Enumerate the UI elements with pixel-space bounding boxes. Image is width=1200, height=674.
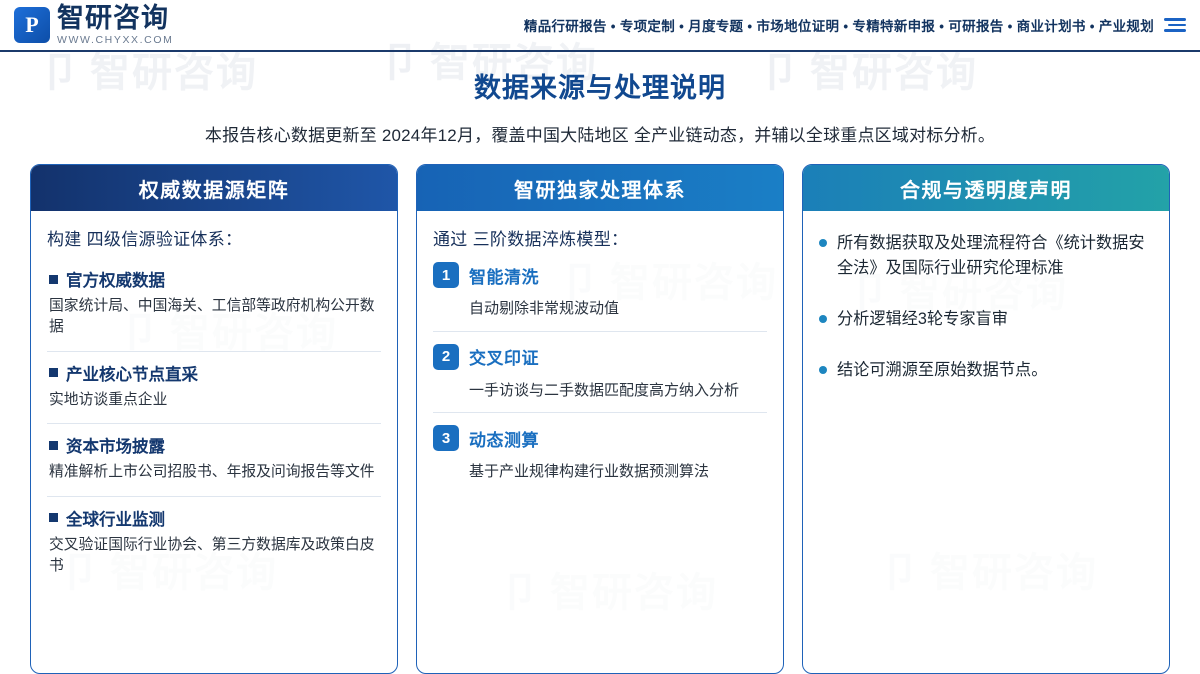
card-data-sources: 权威数据源矩阵 构建 四级信源验证体系： 官方权威数据 国家统计局、中国海关、工… [30,164,398,674]
block-text: 国家统计局、中国海关、工信部等政府机构公开数据 [49,296,379,339]
card-title-data-sources: 权威数据源矩阵 [31,165,397,211]
square-bullet-icon [49,441,58,450]
list-item: 所有数据获取及处理流程符合《统计数据安全法》及国际行业研究伦理标准 [819,231,1153,281]
page-subtitle: 本报告核心数据更新至 2024年12月，覆盖中国大陆地区 全产业链动态，并辅以全… [0,121,1200,146]
dot-bullet-icon [819,366,827,374]
step-title: 动态测算 [469,426,539,451]
block-text: 精准解析上市公司招股书、年报及问询报告等文件 [49,462,379,483]
list-item: 资本市场披露 精准解析上市公司招股书、年报及问询报告等文件 [47,424,381,496]
card-title-processing-system: 智研独家处理体系 [417,165,783,211]
square-bullet-icon [49,368,58,377]
card-lead-processing-system: 通过 三阶数据淬炼模型： [433,225,767,250]
block-text: 交叉验证国际行业协会、第三方数据库及政策白皮书 [49,535,379,578]
card-processing-system: 智研独家处理体系 通过 三阶数据淬炼模型： 1 智能清洗 自动剔除非常规波动值 … [416,164,784,674]
card-lead-data-sources: 构建 四级信源验证体系： [47,225,381,250]
step-text: 基于产业规律构建行业数据预测算法 [469,461,767,484]
header-tagline: 精品行研报告 • 专项定制 • 月度专题 • 市场地位证明 • 专精特新申报 •… [524,15,1160,35]
step-number: 1 [433,262,459,288]
dot-bullet-icon [819,239,827,247]
page-header: P 智研咨询 WWW.CHYXX.COM 精品行研报告 • 专项定制 • 月度专… [0,0,1200,52]
step-text: 自动剔除非常规波动值 [469,298,767,321]
brand-url: WWW.CHYXX.COM [57,35,173,46]
block-title: 官方权威数据 [66,267,165,291]
list-item: 2 交叉印证 一手访谈与二手数据匹配度高方纳入分析 [433,331,767,413]
page-title: 数据来源与处理说明 [0,66,1200,105]
block-text: 实地访谈重点企业 [49,390,379,411]
list-item: 3 动态测算 基于产业规律构建行业数据预测算法 [433,412,767,494]
block-title: 产业核心节点直采 [66,361,198,385]
step-text: 一手访谈与二手数据匹配度高方纳入分析 [469,380,767,403]
list-item: 产业核心节点直采 实地访谈重点企业 [47,352,381,424]
content-columns: 权威数据源矩阵 构建 四级信源验证体系： 官方权威数据 国家统计局、中国海关、工… [0,146,1200,674]
list-item: 结论可溯源至原始数据节点。 [819,358,1153,383]
list-item: 全球行业监测 交叉验证国际行业协会、第三方数据库及政策白皮书 [47,497,381,590]
bullet-text: 分析逻辑经3轮专家盲审 [837,307,1008,332]
title-section: 数据来源与处理说明 本报告核心数据更新至 2024年12月，覆盖中国大陆地区 全… [0,66,1200,146]
step-number: 3 [433,425,459,451]
card-title-compliance: 合规与透明度声明 [803,165,1169,211]
bullet-text: 所有数据获取及处理流程符合《统计数据安全法》及国际行业研究伦理标准 [837,231,1153,281]
brand-name: 智研咨询 [57,5,173,32]
dot-bullet-icon [819,315,827,323]
card-compliance: 合规与透明度声明 所有数据获取及处理流程符合《统计数据安全法》及国际行业研究伦理… [802,164,1170,674]
menu-icon[interactable] [1160,18,1186,32]
square-bullet-icon [49,513,58,522]
logo-icon: P [14,7,50,43]
brand-logo[interactable]: P 智研咨询 WWW.CHYXX.COM [14,5,173,46]
list-item: 分析逻辑经3轮专家盲审 [819,307,1153,332]
list-item: 官方权威数据 国家统计局、中国海关、工信部等政府机构公开数据 [47,258,381,352]
step-title: 交叉印证 [469,344,539,369]
square-bullet-icon [49,275,58,284]
block-title: 全球行业监测 [66,506,165,530]
step-number: 2 [433,344,459,370]
step-title: 智能清洗 [469,263,539,288]
bullet-text: 结论可溯源至原始数据节点。 [837,358,1047,383]
block-title: 资本市场披露 [66,433,165,457]
list-item: 1 智能清洗 自动剔除非常规波动值 [433,258,767,331]
